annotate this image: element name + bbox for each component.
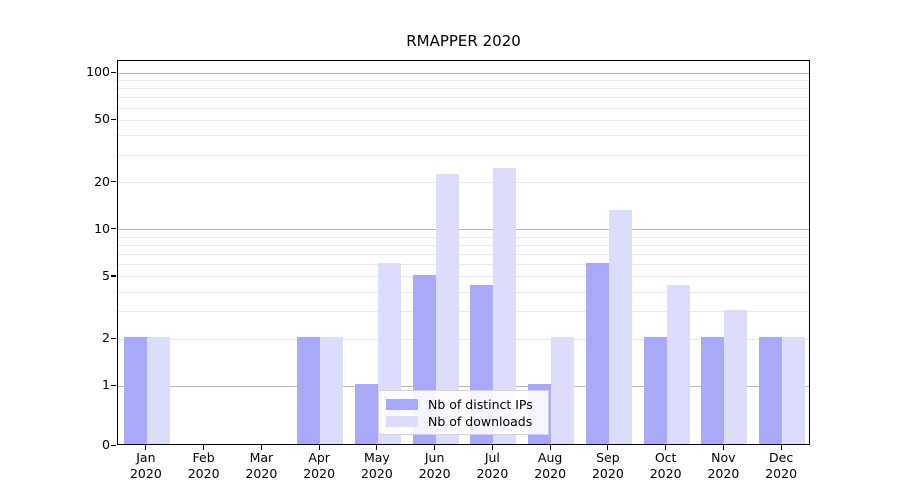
bar-distinct-ips — [644, 337, 667, 444]
legend-label: Nb of downloads — [428, 415, 532, 429]
x-tick-month: Dec — [741, 450, 821, 466]
x-tick-mark — [607, 445, 608, 450]
bar-downloads — [320, 337, 343, 444]
y-tick-label: 1 — [102, 378, 110, 391]
legend-item: Nb of downloads — [386, 413, 541, 430]
legend-swatch — [386, 399, 418, 410]
bar-distinct-ips — [297, 337, 320, 444]
plot-area — [117, 60, 810, 445]
x-tick-mark — [203, 445, 204, 450]
bar-downloads — [782, 337, 805, 444]
y-tick-mark — [111, 385, 116, 386]
x-tick-mark — [723, 445, 724, 450]
x-tick-mark — [665, 445, 666, 450]
bar-distinct-ips — [586, 263, 609, 444]
x-tick-mark — [781, 445, 782, 450]
y-tick-mark — [111, 445, 116, 446]
y-tick-label: 50 — [94, 112, 110, 125]
legend-swatch — [386, 416, 418, 427]
bar-downloads — [609, 210, 632, 444]
bar-distinct-ips — [124, 337, 147, 444]
bar-downloads — [667, 285, 690, 444]
bar-distinct-ips — [701, 337, 724, 444]
y-tick-label: 2 — [102, 331, 110, 344]
x-tick-label: Dec2020 — [741, 450, 821, 482]
x-tick-mark — [261, 445, 262, 450]
x-tick-year: 2020 — [741, 466, 821, 482]
x-axis-tick-labels: Jan2020Feb2020Mar2020Apr2020May2020Jun20… — [117, 450, 810, 494]
y-tick-mark — [111, 119, 116, 120]
x-tick-mark — [145, 445, 146, 450]
bar-downloads — [147, 337, 170, 444]
chart-legend: Nb of distinct IPsNb of downloads — [378, 390, 549, 435]
x-tick-mark — [434, 445, 435, 450]
x-tick-mark — [550, 445, 551, 450]
legend-item: Nb of distinct IPs — [386, 396, 541, 413]
y-tick-mark — [111, 72, 116, 73]
y-tick-mark — [111, 275, 116, 276]
legend-label: Nb of distinct IPs — [428, 398, 533, 412]
y-tick-label: 100 — [86, 65, 110, 78]
chart-figure: RMAPPER 2020 0125102050100 Jan2020Feb202… — [0, 0, 900, 500]
y-tick-mark — [111, 181, 116, 182]
y-axis-tick-labels: 0125102050100 — [67, 60, 110, 445]
x-tick-mark — [376, 445, 377, 450]
y-tick-mark — [111, 338, 116, 339]
y-tick-mark — [111, 228, 116, 229]
y-tick-label: 5 — [102, 269, 110, 282]
bars-layer — [118, 61, 809, 444]
chart-title: RMAPPER 2020 — [117, 32, 810, 50]
bar-downloads — [551, 337, 574, 444]
x-tick-mark — [319, 445, 320, 450]
bar-distinct-ips — [355, 384, 378, 444]
bar-downloads — [724, 310, 747, 444]
x-tick-mark — [492, 445, 493, 450]
y-tick-label: 10 — [94, 222, 110, 235]
bar-distinct-ips — [759, 337, 782, 444]
y-tick-label: 20 — [94, 175, 110, 188]
